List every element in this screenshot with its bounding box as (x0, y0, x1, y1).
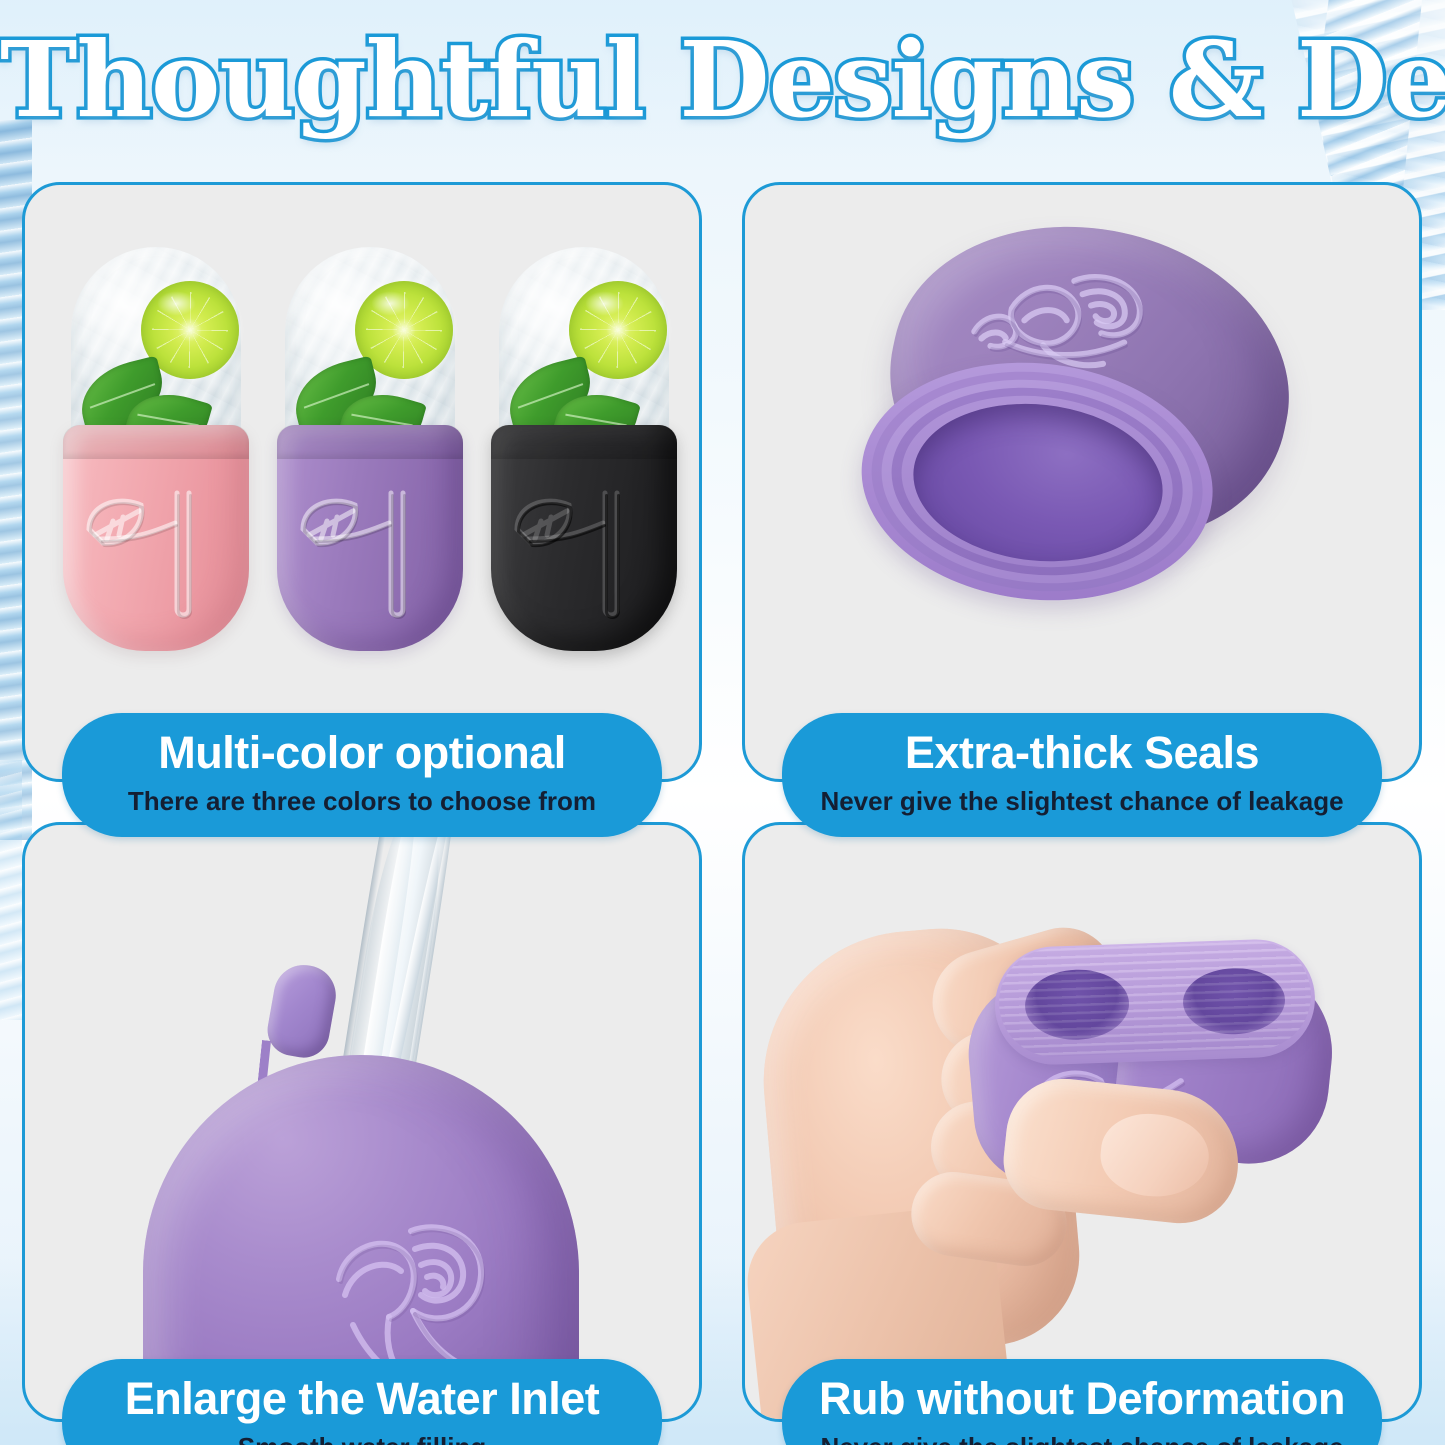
feature-panel-water-inlet: Enlarge the Water Inlet Smooth water fil… (22, 822, 702, 1422)
holder-lip (491, 425, 677, 459)
caption-extra-thick-seals: Extra-thick Seals Never give the slighte… (782, 713, 1382, 837)
page-title: Thoughtful Designs & Details (0, 22, 1445, 138)
silicone-cup-tilted (817, 197, 1336, 645)
caption-subtitle: There are three colors to choose from (80, 785, 644, 818)
ice-texture-left-edge-lower (0, 760, 22, 1020)
caption-title: Enlarge the Water Inlet (80, 1375, 644, 1424)
holder-lip (63, 425, 249, 459)
silicone-holder-purple (277, 425, 463, 651)
leaf-emboss-icon (293, 477, 443, 627)
panel-4-image-stage (745, 825, 1419, 1419)
caption-water-inlet: Enlarge the Water Inlet Smooth water fil… (62, 1359, 662, 1445)
feature-panel-multi-color: Multi-color optional There are three col… (22, 182, 702, 782)
product-infographic: Thoughtful Designs & Details (0, 0, 1445, 1445)
silicone-holder-black (491, 425, 677, 651)
caption-subtitle: Never give the slightest chance of leaka… (800, 1431, 1364, 1445)
panel-1-image-stage (25, 185, 699, 779)
leaf-emboss-icon (507, 477, 657, 627)
panel-3-image-stage (25, 825, 699, 1419)
caption-title: Extra-thick Seals (800, 729, 1364, 778)
leaf-emboss-icon (79, 477, 229, 627)
feature-panel-extra-thick-seals: Extra-thick Seals Never give the slighte… (742, 182, 1422, 782)
caption-title: Rub without Deformation (800, 1375, 1364, 1424)
caption-title: Multi-color optional (80, 729, 644, 778)
thumbnail (1097, 1109, 1213, 1202)
silicone-holder-pink (63, 425, 249, 651)
ice-mould-purple (277, 247, 463, 651)
ice-mould-black (491, 247, 677, 651)
caption-multi-color: Multi-color optional There are three col… (62, 713, 662, 837)
holder-lip (277, 425, 463, 459)
cup-rim-folds (997, 940, 1313, 1059)
hand-holding-cup (745, 835, 1419, 1419)
feature-panel-rub-without-deformation: Rub without Deformation Never give the s… (742, 822, 1422, 1422)
panel-2-image-stage (745, 185, 1419, 779)
caption-subtitle: Smooth water filling (80, 1431, 644, 1445)
caption-rub-without-deformation: Rub without Deformation Never give the s… (782, 1359, 1382, 1445)
caption-subtitle: Never give the slightest chance of leaka… (800, 785, 1364, 818)
ice-mould-pink (63, 247, 249, 651)
